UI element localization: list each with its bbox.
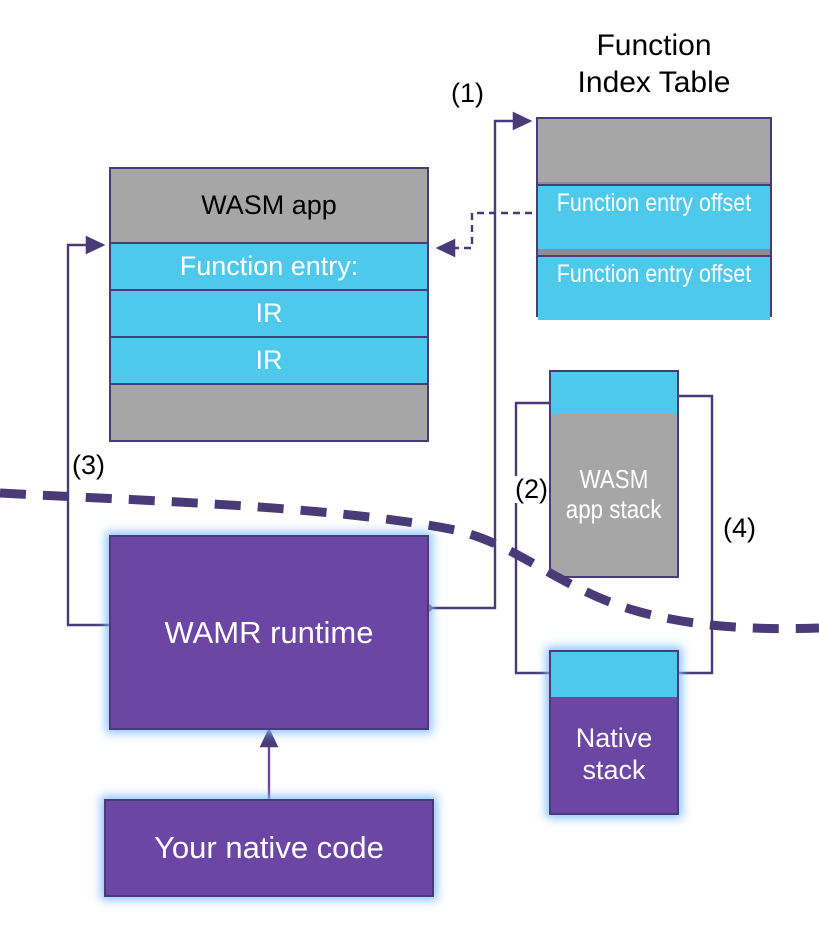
connector-step-3 xyxy=(68,245,109,625)
diagram-canvas: Function Index Table Function entry offs… xyxy=(0,0,819,925)
wasm-app-row-function-entry[interactable]: Function entry: xyxy=(111,242,427,289)
your-native-code-label: Your native code xyxy=(154,830,384,866)
wasm-app-stack-top-slot[interactable] xyxy=(551,372,677,414)
step-label-4: (4) xyxy=(722,515,757,542)
wasm-app-label: WASM app xyxy=(201,190,337,221)
ir-label-1: IR xyxy=(256,298,283,329)
step-label-3: (3) xyxy=(71,452,106,479)
wasm-app-row-ir-1[interactable]: IR xyxy=(111,289,427,336)
fit-row-2[interactable]: Function entry offset xyxy=(538,255,770,320)
function-index-table-title: Function Index Table xyxy=(536,28,772,101)
native-stack-body: Native stack xyxy=(551,697,677,812)
native-stack-label-line-1: Native xyxy=(576,723,653,754)
wamr-runtime-block[interactable]: WAMR runtime xyxy=(109,535,429,730)
fit-row-1[interactable]: Function entry offset xyxy=(538,184,770,249)
wamr-runtime-label: WAMR runtime xyxy=(165,615,374,651)
wasm-app-stack-body: WASM app stack xyxy=(551,414,677,575)
wasm-app-stack-block[interactable]: WASM app stack xyxy=(549,370,679,578)
function-index-table[interactable]: Function entry offset Function entry off… xyxy=(536,117,772,317)
wasm-app-stack-label-line-2: app stack xyxy=(566,495,662,525)
native-stack-block[interactable]: Native stack xyxy=(549,650,679,815)
ir-label-2: IR xyxy=(256,345,283,376)
step-label-1: (1) xyxy=(450,80,485,107)
fit-row-1-label: Function entry offset xyxy=(554,189,754,218)
step-label-2: (2) xyxy=(514,476,549,503)
fit-row-0 xyxy=(538,119,770,182)
fit-title-line-2: Index Table xyxy=(536,65,772,102)
native-stack-label-line-2: stack xyxy=(582,755,645,786)
wasm-app-stack-label-line-1: WASM xyxy=(580,465,649,495)
wasm-app-row-ir-2[interactable]: IR xyxy=(111,336,427,383)
your-native-code-block[interactable]: Your native code xyxy=(104,799,434,897)
connector-step-1 xyxy=(424,121,531,613)
fit-title-line-1: Function xyxy=(536,28,772,65)
fit-row-2-label: Function entry offset xyxy=(554,260,754,289)
wasm-app-block[interactable]: WASM app Function entry: IR IR xyxy=(109,167,429,442)
wasm-app-row-header: WASM app xyxy=(111,169,427,242)
wasm-app-row-footer xyxy=(111,383,427,440)
function-entry-label: Function entry: xyxy=(180,251,359,282)
native-stack-top-slot[interactable] xyxy=(551,652,677,697)
